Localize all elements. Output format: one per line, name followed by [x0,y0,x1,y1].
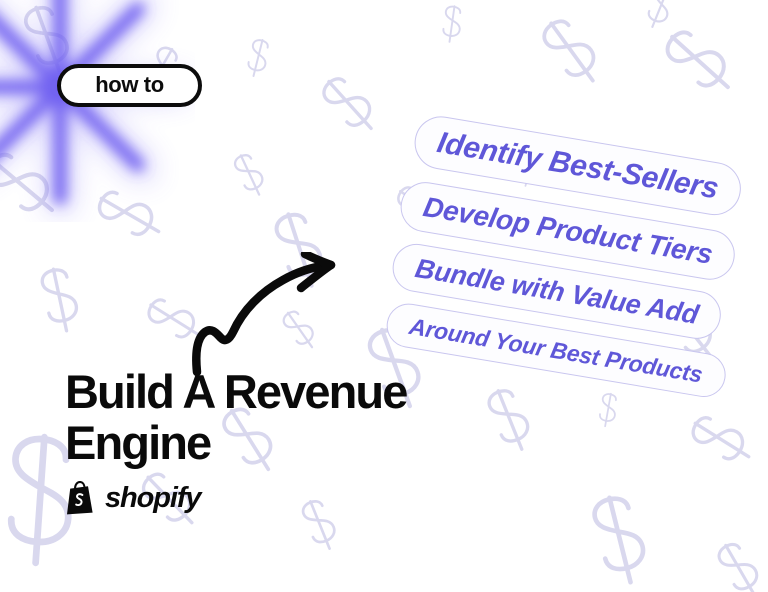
shopify-wordmark: shopify [105,484,200,513]
step-pill-list: Identify Best-Sellers Develop Product Ti… [393,96,768,396]
shopify-logo: shopify [66,481,200,515]
page-title-line-1: Build A Revenue [65,367,505,418]
graphic-canvas: how to Identify Best-Sellers Develop Pro… [0,0,768,592]
page-title-line-2: Engine [65,418,505,469]
page-title: Build A Revenue Engine [65,367,505,469]
how-to-badge-label: how to [95,74,163,96]
hand-drawn-curved-arrow-icon [185,252,345,377]
shopify-bag-icon [66,481,96,515]
asterisk-starburst [0,0,195,222]
how-to-badge: how to [57,64,202,107]
